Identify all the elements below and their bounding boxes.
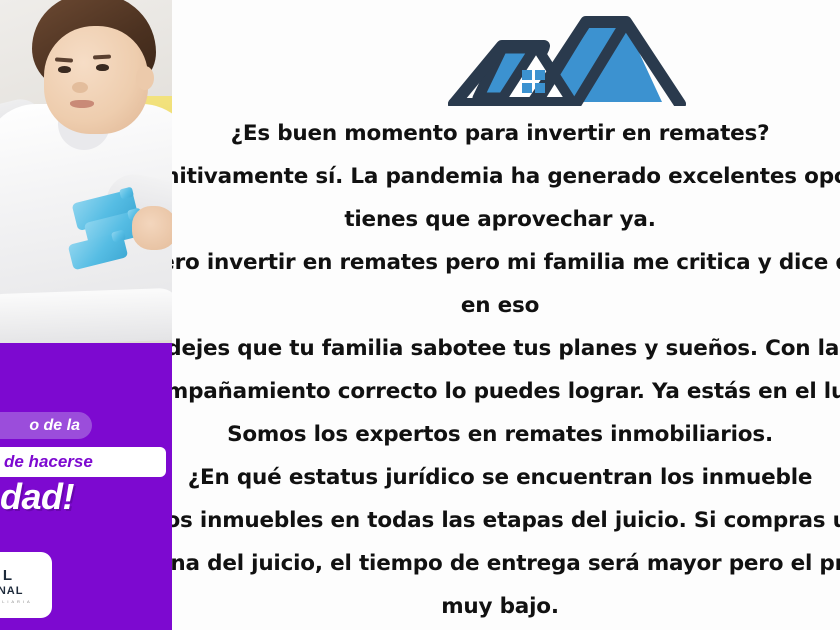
promo-headline: dad! bbox=[0, 476, 168, 518]
faq-line: ¿En qué estatus jurídico se encuentran l… bbox=[172, 456, 840, 499]
faq-line: ¿Es buen momento para invertir en remate… bbox=[172, 112, 840, 155]
promo-pill-badge: o de la bbox=[0, 412, 92, 439]
house-roof-logo-icon bbox=[440, 6, 700, 106]
promo-brand-logo: L L TIONAL I N M O B I L I A R I A bbox=[0, 552, 52, 618]
faq-line: temprana del juicio, el tiempo de entreg… bbox=[172, 542, 840, 585]
photo-child-mouth bbox=[70, 100, 94, 108]
promo-photo bbox=[0, 0, 172, 343]
promo-brand-logo-line2: TIONAL bbox=[0, 585, 23, 597]
photo-child-ear bbox=[136, 66, 154, 90]
faq-line: tienes que aprovechar ya. bbox=[172, 198, 840, 241]
faq-line: en eso bbox=[172, 284, 840, 327]
photo-child-eye-left bbox=[58, 66, 71, 73]
photo-child-nose bbox=[72, 82, 88, 93]
faq-line: No dejes que tu familia sabotee tus plan… bbox=[172, 327, 840, 370]
faq-line: Definitivamente sí. La pandemia ha gener… bbox=[172, 155, 840, 198]
faq-line: muy bajo. bbox=[172, 585, 840, 628]
promo-brand-logo-line3: I N M O B I L I A R I A bbox=[0, 599, 31, 604]
photo-child-eye-right bbox=[96, 64, 109, 71]
photo-child-hand bbox=[132, 206, 172, 250]
photo-white-table bbox=[0, 288, 172, 343]
faq-line: Tenemos inmuebles en todas las etapas de… bbox=[172, 499, 840, 542]
page-root: o de la de hacerse dad! L L TIONAL I N M… bbox=[0, 0, 840, 630]
promo-sidebar: o de la de hacerse dad! L L TIONAL I N M… bbox=[0, 0, 172, 630]
promo-purple-panel: o de la de hacerse dad! L L TIONAL I N M… bbox=[0, 343, 172, 630]
promo-banner-label: de hacerse bbox=[4, 452, 93, 472]
photo-child-head bbox=[44, 26, 148, 134]
faq-text-block: ¿Es buen momento para invertir en remate… bbox=[172, 112, 840, 628]
faq-line: acompañamiento correcto lo puedes lograr… bbox=[172, 370, 840, 413]
main-content: ¿Es buen momento para invertir en remate… bbox=[172, 0, 840, 630]
promo-pill-label: o de la bbox=[29, 417, 80, 435]
promo-white-banner: de hacerse bbox=[0, 447, 166, 477]
promo-brand-logo-line1: L L bbox=[0, 567, 14, 584]
faq-line: Quiero invertir en remates pero mi famil… bbox=[172, 241, 840, 284]
faq-line: Somos los expertos en remates inmobiliar… bbox=[172, 413, 840, 456]
